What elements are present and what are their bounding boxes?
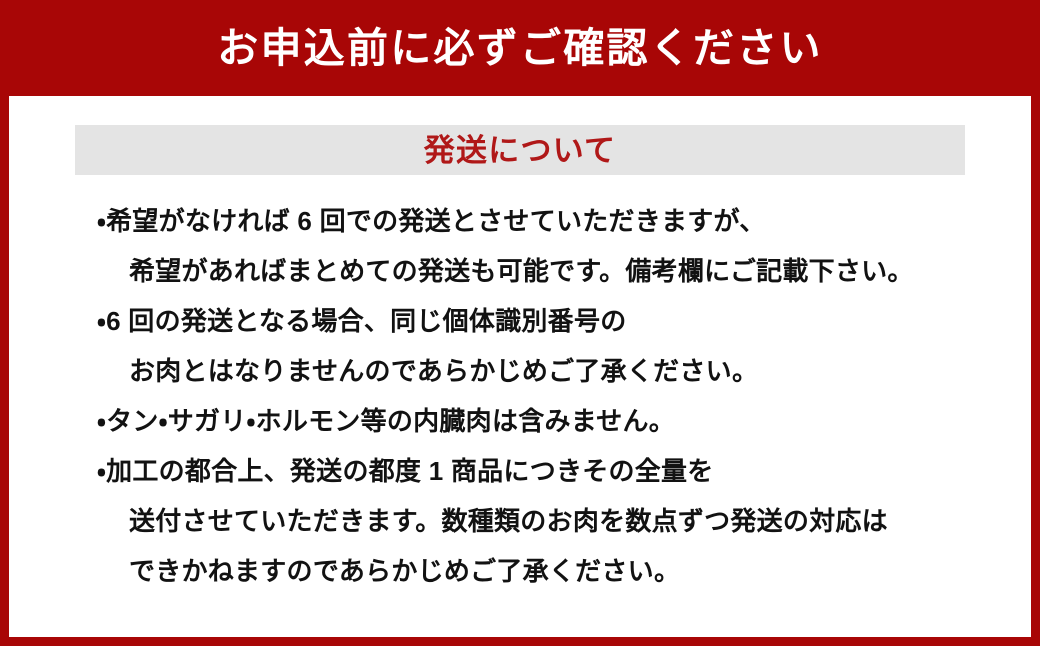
- notice-line: お肉とはなりませんのであらかじめご了承ください。: [97, 346, 1007, 396]
- notice-line: ・タン・サガリ・ホルモン等の内臓肉は含みません。: [97, 396, 1007, 446]
- page-title: お申込前に必ずご確認ください: [217, 28, 823, 69]
- shipping-notice-card: お申込前に必ずご確認ください 発送について ・希望がなければ 6 回での発送とさ…: [0, 0, 1040, 646]
- frame-border-bottom: [0, 637, 1040, 646]
- section-title: 発送について: [424, 135, 617, 166]
- notice-line: ・6 回の発送となる場合、同じ個体識別番号の: [97, 296, 1007, 346]
- notice-line: できかねますのであらかじめご了承ください。: [97, 546, 1007, 596]
- notice-line: 希望があればまとめての発送も可能です。備考欄にご記載下さい。: [97, 246, 1007, 296]
- header-banner: お申込前に必ずご確認ください: [0, 0, 1040, 96]
- notice-line: ・加工の都合上、発送の都度 1 商品につきその全量を: [97, 446, 1007, 496]
- section-header-band: 発送について: [75, 125, 965, 175]
- frame-border-left: [0, 0, 9, 646]
- notice-list: ・希望がなければ 6 回での発送とさせていただきますが、 希望があればまとめての…: [97, 196, 1007, 596]
- notice-body: 発送について ・希望がなければ 6 回での発送とさせていただきますが、 希望があ…: [9, 96, 1031, 637]
- notice-line: ・希望がなければ 6 回での発送とさせていただきますが、: [97, 196, 1007, 246]
- notice-line: 送付させていただきます。数種類のお肉を数点ずつ発送の対応は: [97, 496, 1007, 546]
- frame-border-right: [1031, 0, 1040, 646]
